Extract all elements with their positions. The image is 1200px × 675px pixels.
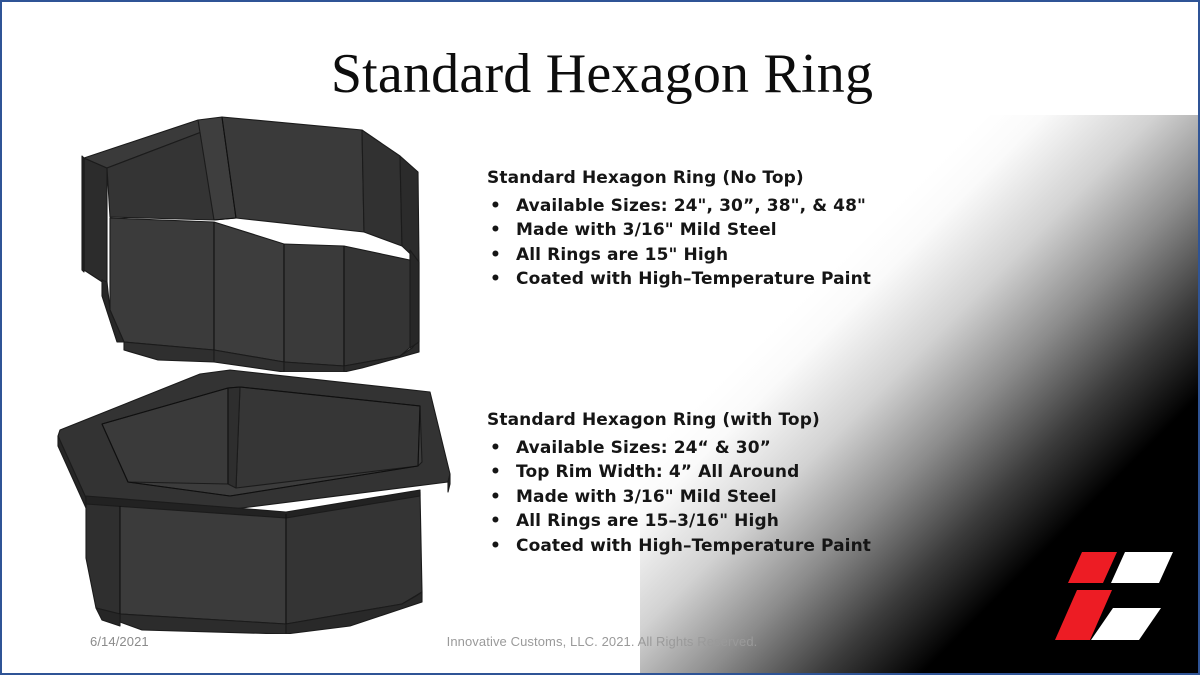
list-item-label: All Rings are 15–3/16" High (516, 511, 779, 531)
page-title: Standard Hexagon Ring (2, 44, 1200, 106)
hexagon-ring-no-top-illustration (62, 110, 462, 372)
logo-white-bar-top (1111, 552, 1173, 583)
bullet-icon: • (490, 534, 501, 558)
section-no-top: Standard Hexagon Ring (No Top) • Availab… (487, 168, 871, 292)
bullet-list-no-top: • Available Sizes: 24", 30”, 38", & 48" … (487, 194, 871, 292)
list-item: • Available Sizes: 24“ & 30” (487, 436, 871, 460)
section-heading-no-top: Standard Hexagon Ring (No Top) (487, 168, 871, 188)
bullet-icon: • (490, 218, 501, 242)
slide: Standard Hexagon Ring (0, 0, 1200, 675)
bullet-icon: • (490, 485, 501, 509)
list-item-label: Available Sizes: 24", 30”, 38", & 48" (516, 196, 866, 216)
bullet-icon: • (490, 509, 501, 533)
section-with-top: Standard Hexagon Ring (with Top) • Avail… (487, 410, 871, 558)
list-item: • Coated with High–Temperature Paint (487, 267, 871, 291)
list-item-label: Made with 3/16" Mild Steel (516, 220, 777, 240)
innovative-customs-logo (1055, 550, 1173, 642)
list-item-label: Top Rim Width: 4” All Around (516, 462, 799, 482)
bullet-icon: • (490, 436, 501, 460)
list-item: • Available Sizes: 24", 30”, 38", & 48" (487, 194, 871, 218)
list-item-label: Made with 3/16" Mild Steel (516, 487, 777, 507)
list-item: • Made with 3/16" Mild Steel (487, 485, 871, 509)
list-item: • All Rings are 15" High (487, 243, 871, 267)
bullet-list-with-top: • Available Sizes: 24“ & 30” • Top Rim W… (487, 436, 871, 558)
list-item: • All Rings are 15–3/16" High (487, 509, 871, 533)
hexagon-ring-with-top-illustration (50, 362, 470, 634)
list-item-label: Coated with High–Temperature Paint (516, 269, 871, 289)
section-heading-with-top: Standard Hexagon Ring (with Top) (487, 410, 871, 430)
list-item: • Coated with High–Temperature Paint (487, 534, 871, 558)
bullet-icon: • (490, 267, 501, 291)
bullet-icon: • (490, 243, 501, 267)
list-item-label: All Rings are 15" High (516, 245, 728, 265)
footer-copyright: Innovative Customs, LLC. 2021. All Right… (2, 634, 1200, 649)
list-item: • Top Rim Width: 4” All Around (487, 460, 871, 484)
bullet-icon: • (490, 194, 501, 218)
logo-red-accent-top (1068, 552, 1117, 583)
list-item-label: Available Sizes: 24“ & 30” (516, 438, 771, 458)
bullet-icon: • (490, 460, 501, 484)
list-item-label: Coated with High–Temperature Paint (516, 536, 871, 556)
list-item: • Made with 3/16" Mild Steel (487, 218, 871, 242)
